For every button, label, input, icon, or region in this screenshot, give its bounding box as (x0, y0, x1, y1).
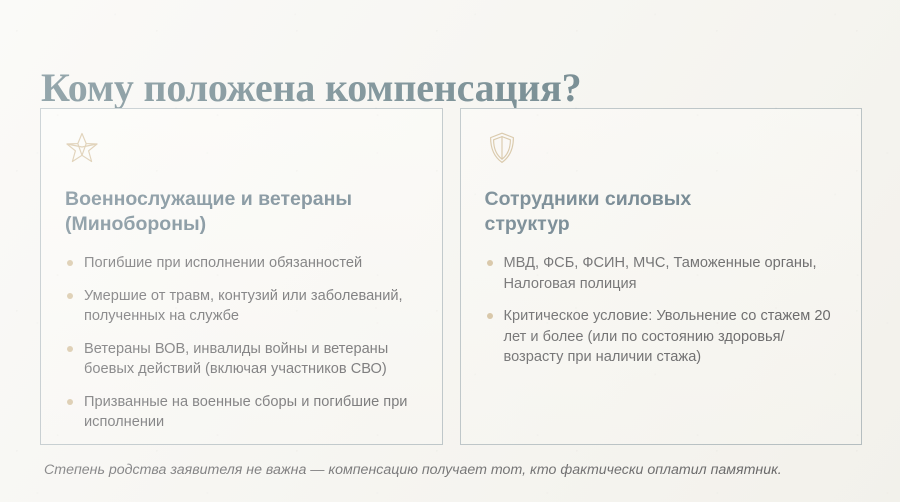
list-item-text: Умершие от травм, контузий или заболеван… (84, 288, 403, 325)
list-item-text: Критическое условие: Увольнение со стаже… (504, 308, 831, 365)
footnote: Степень родства заявителя не важна — ком… (44, 462, 782, 478)
list-item: Ветераны ВОВ, инвалиды войны и ветераны … (65, 339, 418, 380)
bullet-dot-icon (67, 260, 73, 266)
card-law-enforcement: Сотрудники силовых структур МВД, ФСБ, ФС… (460, 108, 863, 445)
page-title: Кому положена компенсация? (41, 65, 581, 111)
list-item: Критическое условие: Увольнение со стаже… (485, 306, 838, 368)
bullet-list-law-enforcement: МВД, ФСБ, ФСИН, МЧС, Таможенные органы, … (485, 253, 838, 368)
bullet-dot-icon (487, 260, 493, 266)
bullet-dot-icon (67, 346, 73, 352)
bullet-list-military: Погибшие при исполнении обязанностей Уме… (65, 253, 418, 433)
bullet-dot-icon (67, 399, 73, 405)
list-item: Погибшие при исполнении обязанностей (65, 253, 418, 274)
list-item-text: Призванные на военные сборы и погибшие п… (84, 394, 407, 431)
list-item: МВД, ФСБ, ФСИН, МЧС, Таможенные органы, … (485, 253, 838, 294)
slide: Кому положена компенсация? Военнослужащи… (0, 0, 900, 502)
bullet-dot-icon (487, 313, 493, 319)
star-icon (65, 131, 99, 167)
bullet-dot-icon (67, 293, 73, 299)
list-item-text: Погибшие при исполнении обязанностей (84, 255, 362, 271)
card-heading-military: Военнослужащие и ветераны (Минобороны) (65, 187, 395, 237)
cards-container: Военнослужащие и ветераны (Минобороны) П… (40, 108, 862, 445)
list-item-text: МВД, ФСБ, ФСИН, МЧС, Таможенные органы, … (504, 255, 817, 292)
shield-icon (485, 131, 519, 167)
list-item-text: Ветераны ВОВ, инвалиды войны и ветераны … (84, 341, 388, 378)
list-item: Умершие от травм, контузий или заболеван… (65, 286, 418, 327)
card-heading-law-enforcement: Сотрудники силовых структур (485, 187, 735, 237)
list-item: Призванные на военные сборы и погибшие п… (65, 392, 418, 433)
card-military: Военнослужащие и ветераны (Минобороны) П… (40, 108, 443, 445)
